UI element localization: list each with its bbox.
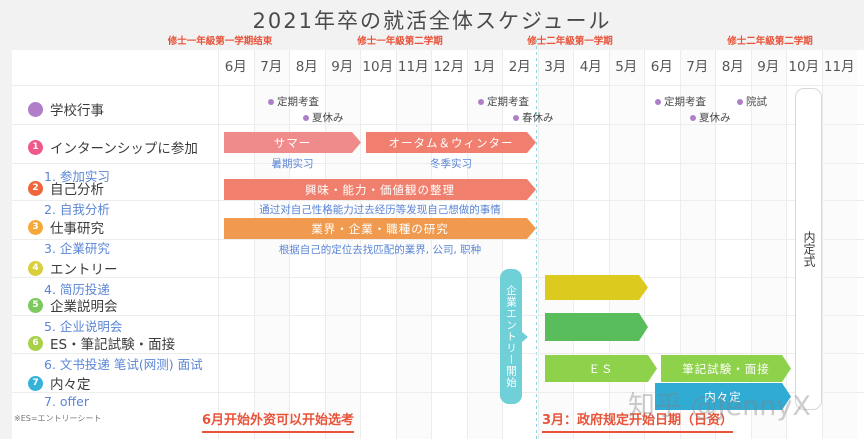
month-header-11月: 11月 xyxy=(396,53,432,81)
sidebar-item-3[interactable]: 2自己分析 xyxy=(28,177,104,199)
row-separator xyxy=(12,239,864,240)
school-event: 定期考査 xyxy=(268,94,319,109)
step-number-badge: 3 xyxy=(28,220,43,235)
month-header-5月: 5月 xyxy=(609,53,645,81)
step-number-badge: 4 xyxy=(28,261,43,276)
gantt-bar-chinese-caption: 通过对自己性格能力过去经历等发现自己想做的事情 xyxy=(224,202,536,217)
month-header-3月: 3月 xyxy=(538,53,574,81)
event-dot-icon xyxy=(268,99,274,105)
sidebar-item-label: インターンシップに参加 xyxy=(50,137,198,157)
naitei-ceremony-box: 内定式 xyxy=(795,88,822,410)
school-event-label: 定期考査 xyxy=(487,94,529,109)
row-separator xyxy=(12,277,864,278)
gantt-bar-es: ＥＳ xyxy=(545,355,657,382)
gantt-bar-company-briefing xyxy=(545,313,648,341)
bottom-note-2: 3月：政府规定开始日期（日资） xyxy=(542,409,733,433)
school-event: 夏休み xyxy=(690,110,731,125)
month-header-9月: 9月 xyxy=(325,53,361,81)
gantt-bar-chinese-caption: 暑期实习 xyxy=(224,156,361,171)
month-header-1月: 1月 xyxy=(467,53,503,81)
row-separator xyxy=(12,315,864,316)
month-header-7月: 7月 xyxy=(254,53,290,81)
sidebar-item-chinese-label: 6. 文书投递 笔试(网测) 面试 xyxy=(44,354,203,373)
entry-start-flag: 企業エントリー開始 xyxy=(500,269,522,404)
month-header-12月: 12月 xyxy=(431,53,467,81)
month-header-4月: 4月 xyxy=(573,53,609,81)
month-column-line xyxy=(218,50,219,439)
sidebar-item-label: エントリー xyxy=(50,258,118,278)
month-header-6月: 6月 xyxy=(218,53,254,81)
gantt-bar-chinese-caption: 根据自己的定位去找匹配的業界, 公司, 职种 xyxy=(224,242,536,257)
event-dot-icon xyxy=(478,99,484,105)
month-header-10月: 10月 xyxy=(360,53,396,81)
left-gutter xyxy=(0,0,12,439)
semester-label-1: 修士一年級第一学期结束 xyxy=(120,33,320,47)
school-event-label: 定期考査 xyxy=(664,94,706,109)
school-event: 春休み xyxy=(513,110,554,125)
bottom-note-1: 6月开始外资可以开始选考 xyxy=(202,409,354,433)
month-column-line xyxy=(538,50,539,439)
sidebar-item-5[interactable]: 4エントリー xyxy=(28,257,118,279)
sidebar-item-label: 自己分析 xyxy=(50,178,104,198)
month-header-10月: 10月 xyxy=(786,53,822,81)
step-number-badge: 5 xyxy=(28,298,43,313)
sidebar-item-chinese-label: 3. 企業研究 xyxy=(44,238,110,257)
month-header-8月: 8月 xyxy=(289,53,325,81)
month-column-shade xyxy=(822,50,858,439)
sidebar-item-4[interactable]: 3仕事研究 xyxy=(28,216,104,238)
semester-label-4: 修士二年級第二学期 xyxy=(670,33,864,47)
step-number-badge: 6 xyxy=(28,336,43,351)
sidebar-item-1[interactable]: 学校行事 xyxy=(28,98,104,120)
footnote: ※ES=エントリーシート xyxy=(14,413,101,424)
step-number-badge: 2 xyxy=(28,181,43,196)
month-header-2月: 2月 xyxy=(502,53,538,81)
step-number-badge: 1 xyxy=(28,140,43,155)
month-header-9月: 9月 xyxy=(751,53,787,81)
school-event-label: 院試 xyxy=(746,94,767,109)
school-event-label: 夏休み xyxy=(312,110,344,125)
sidebar-item-8[interactable]: 7内々定 xyxy=(28,372,91,394)
sidebar-item-6[interactable]: 5企業説明会 xyxy=(28,294,118,316)
gantt-bar-written-test-interview: 筆記試験・面接 xyxy=(661,355,791,382)
row-separator xyxy=(12,200,864,201)
month-header-8月: 8月 xyxy=(715,53,751,81)
semester-label-3: 修士二年級第一学期 xyxy=(470,33,670,47)
month-header-7月: 7月 xyxy=(680,53,716,81)
event-dot-icon xyxy=(655,99,661,105)
gantt-bar-job-research: 業界・企業・職種の研究 xyxy=(224,218,536,239)
sidebar-item-7[interactable]: 6ES・筆記試験・面接 xyxy=(28,332,175,354)
gantt-bar-informal-offer: 内々定 xyxy=(655,383,791,410)
school-event-label: 定期考査 xyxy=(277,94,319,109)
sidebar-item-label: 企業説明会 xyxy=(50,295,118,315)
step-number-badge: 7 xyxy=(28,376,43,391)
page-title: 2021年卒の就活全体スケジュール xyxy=(0,5,864,35)
event-dot-icon xyxy=(513,115,519,121)
school-event-label: 夏休み xyxy=(699,110,731,125)
sidebar-item-2[interactable]: 1インターンシップに参加 xyxy=(28,136,198,158)
sidebar-item-label: 内々定 xyxy=(50,373,91,393)
month-header-row: 6月7月8月9月10月11月12月1月2月3月4月5月6月7月8月9月10月11… xyxy=(218,53,857,81)
sidebar-item-label: ES・筆記試験・面接 xyxy=(50,333,175,353)
row-separator xyxy=(12,85,864,86)
sidebar-item-chinese-label: 7. offer xyxy=(44,394,89,409)
month-header-6月: 6月 xyxy=(644,53,680,81)
event-dot-icon xyxy=(303,115,309,121)
schedule-infographic: 2021年卒の就活全体スケジュール 修士一年級第一学期结束修士一年級第二学期修士… xyxy=(0,0,864,439)
naitei-ceremony-label: 内定式 xyxy=(801,231,816,267)
school-event: 院試 xyxy=(737,94,767,109)
gantt-bar-autumn-winter-internship: オータム＆ウィンター xyxy=(366,132,536,153)
month-header-11月: 11月 xyxy=(822,53,858,81)
school-event: 夏休み xyxy=(303,110,344,125)
row-separator xyxy=(12,124,864,125)
sidebar-item-label: 学校行事 xyxy=(50,99,104,119)
gantt-bar-chinese-caption: 冬季实习 xyxy=(366,156,536,171)
event-dot-icon xyxy=(28,102,43,117)
gantt-bar-self-analysis: 興味・能力・価値観の整理 xyxy=(224,179,536,200)
gantt-bar-entry xyxy=(545,275,648,300)
event-dot-icon xyxy=(690,115,696,121)
school-event: 定期考査 xyxy=(478,94,529,109)
month-column-line xyxy=(786,50,787,439)
school-event-label: 春休み xyxy=(522,110,554,125)
school-event: 定期考査 xyxy=(655,94,706,109)
event-dot-icon xyxy=(737,99,743,105)
sidebar-item-label: 仕事研究 xyxy=(50,217,104,237)
gantt-bar-summer-internship: サマー xyxy=(224,132,361,153)
flag-arrow-icon xyxy=(521,331,528,343)
entry-start-flag-label: 企業エントリー開始 xyxy=(505,285,517,389)
